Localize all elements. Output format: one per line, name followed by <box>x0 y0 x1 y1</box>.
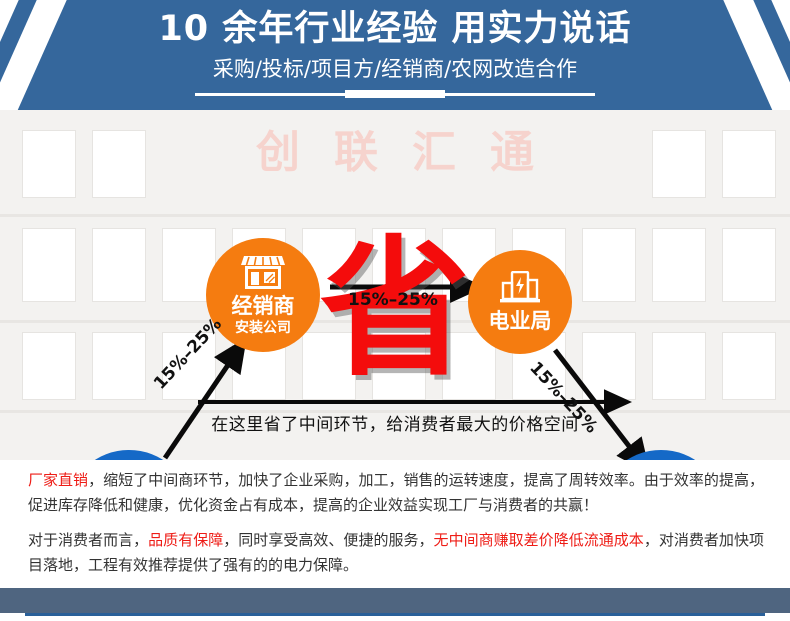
diagram-stage: 创联汇通 省 <box>0 110 790 460</box>
node-dealer-label: 经销商 <box>232 294 295 318</box>
footer-bar <box>0 588 790 613</box>
header-subtitle: 采购/投标/项目方/经销商/农网改造合作 <box>0 56 790 82</box>
edge-label-dealer-to-bureau: 15%–25% <box>348 290 438 310</box>
center-save-character: 省 <box>0 235 790 385</box>
node-dealer[interactable]: 经销商 安装公司 <box>206 238 320 352</box>
header-title: 10 余年行业经验 用实力说话 <box>0 8 790 50</box>
shop-icon <box>240 254 286 290</box>
paragraph-2-lead: 对于消费者而言， <box>28 531 148 549</box>
power-building-icon <box>499 271 541 305</box>
body-copy: 厂家直销，缩短了中间商环节，加快了企业采购，加工，销售的运转速度，提高了周转效率… <box>0 460 790 588</box>
paragraph-1-text: ，缩短了中间商环节，加快了企业采购，加工，销售的运转速度，提高了周转效率。由于效… <box>28 471 764 514</box>
node-bureau-label: 电业局 <box>489 309 552 333</box>
footer-accent-line <box>25 613 765 616</box>
node-dealer-sublabel: 安装公司 <box>235 319 291 337</box>
paragraph-2-highlight-1: 品质有保障 <box>148 531 223 549</box>
paragraph-1-highlight: 厂家直销 <box>28 471 88 489</box>
paragraph-1: 厂家直销，缩短了中间商环节，加快了企业采购，加工，销售的运转速度，提高了周转效率… <box>28 468 764 518</box>
paragraph-2-highlight-2: 无中间商赚取差价降低流通成本 <box>434 531 644 549</box>
page-header: 10 余年行业经验 用实力说话 采购/投标/项目方/经销商/农网改造合作 <box>0 0 790 110</box>
node-bureau[interactable]: 电业局 <box>468 250 572 354</box>
paragraph-2-middle: ，同时享受高效、便捷的服务， <box>223 531 433 549</box>
header-rule-center <box>345 90 445 98</box>
paragraph-2: 对于消费者而言，品质有保障，同时享受高效、便捷的服务，无中间商赚取差价降低流通成… <box>28 528 764 578</box>
edge-label-company-to-consumer: 在这里省了中间环节，给消费者最大的价格空间 <box>0 410 790 435</box>
page-root: 10 余年行业经验 用实力说话 采购/投标/项目方/经销商/农网改造合作 <box>0 0 790 621</box>
